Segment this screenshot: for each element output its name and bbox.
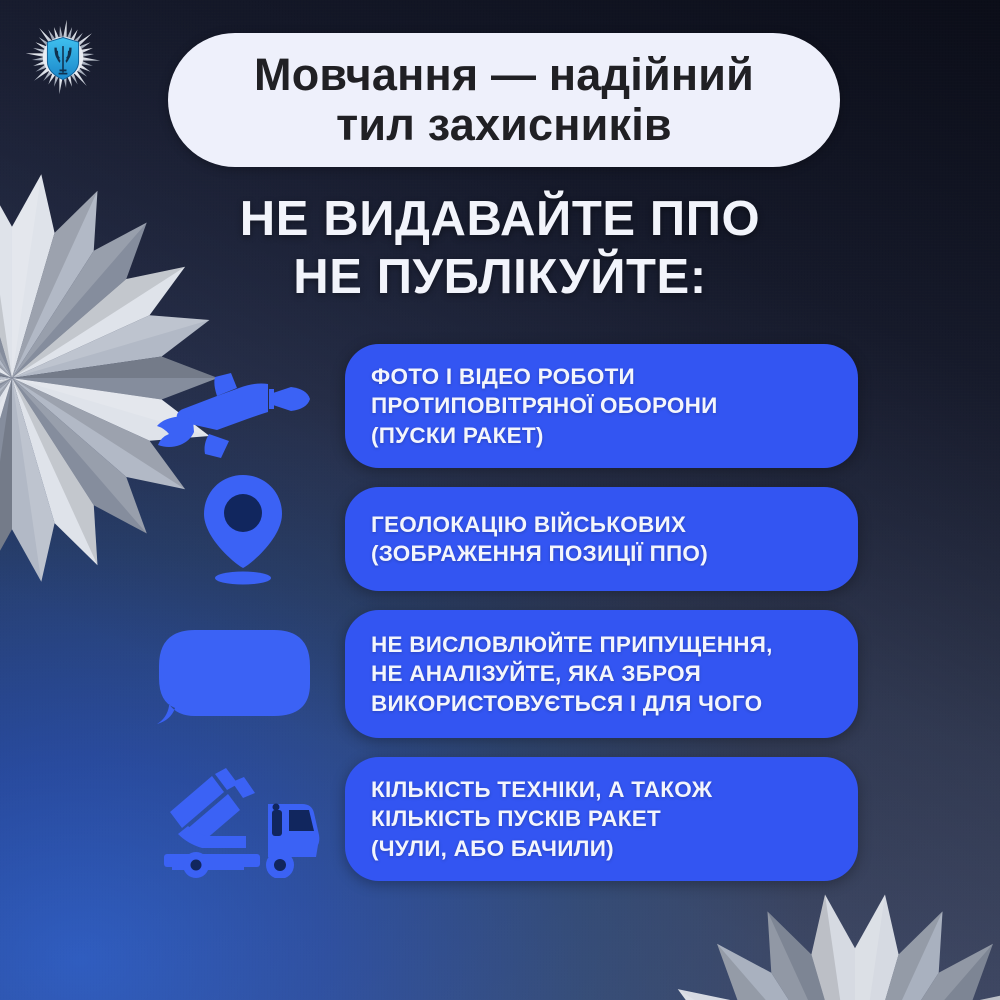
poster-canvas: Мовчання — надійний тил захисників НЕ ВИ… (0, 0, 1000, 1000)
title-pill: Мовчання — надійний тил захисників (168, 33, 840, 167)
warning-card[interactable]: НЕ ВИСЛОВЛЮЙТЕ ПРИПУЩЕННЯ, НЕ АНАЛІЗУЙТЕ… (345, 610, 858, 738)
speech-bubble-icon (157, 628, 312, 726)
warning-card-text: НЕ ВИСЛОВЛЮЙТЕ ПРИПУЩЕННЯ, НЕ АНАЛІЗУЙТЕ… (345, 630, 773, 718)
missile-icon (147, 368, 312, 473)
starburst-bottom-right-decoration (640, 888, 1000, 1000)
warning-card-text: ГЕОЛОКАЦІЮ ВІЙСЬКОВИХ (ЗОБРАЖЕННЯ ПОЗИЦІ… (345, 510, 708, 569)
warning-card-text: КІЛЬКІСТЬ ТЕХНІКИ, А ТАКОЖ КІЛЬКІСТЬ ПУС… (345, 775, 712, 863)
warning-card[interactable]: ГЕОЛОКАЦІЮ ВІЙСЬКОВИХ (ЗОБРАЖЕННЯ ПОЗИЦІ… (345, 487, 858, 591)
rocket-launcher-truck-icon (152, 768, 327, 878)
warning-card[interactable]: ФОТО І ВІДЕО РОБОТИ ПРОТИПОВІТРЯНОЇ ОБОР… (345, 344, 858, 468)
ukrainian-national-police-emblem (24, 18, 102, 96)
warning-card-text: ФОТО І ВІДЕО РОБОТИ ПРОТИПОВІТРЯНОЇ ОБОР… (345, 362, 718, 450)
warning-card[interactable]: КІЛЬКІСТЬ ТЕХНІКИ, А ТАКОЖ КІЛЬКІСТЬ ПУС… (345, 757, 858, 881)
title-text: Мовчання — надійний тил захисників (226, 50, 782, 151)
page-headline: НЕ ВИДАВАЙТЕ ППО НЕ ПУБЛІКУЙТЕ: (0, 191, 1000, 307)
map-pin-icon (188, 472, 298, 587)
